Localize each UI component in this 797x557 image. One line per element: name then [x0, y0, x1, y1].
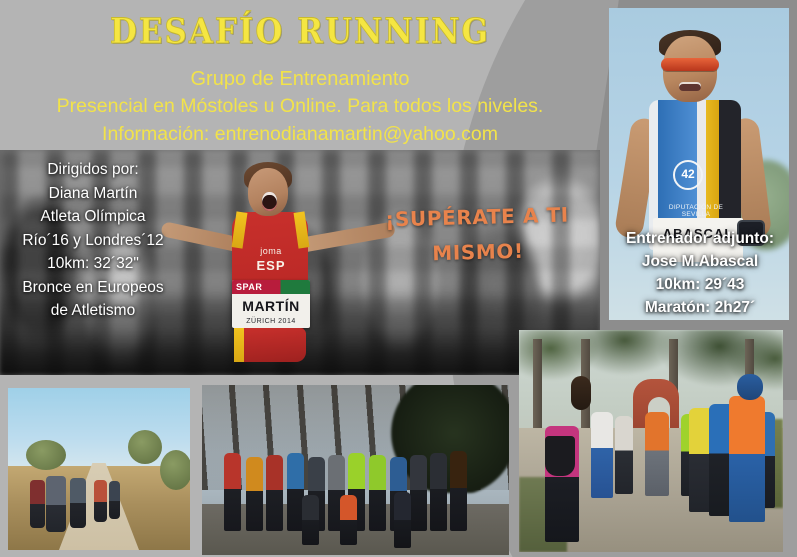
photo-team-group [202, 385, 509, 555]
athlete-kit-brand-text: joma [240, 246, 302, 256]
group-person-dark3 [430, 453, 447, 531]
photo-trail-run [8, 388, 190, 550]
group-person-red [224, 453, 241, 531]
athlete-shorts [234, 328, 306, 362]
poster-title: DESAFÍO RUNNING [0, 14, 600, 50]
group-person-dark4 [450, 451, 467, 531]
trail-runner-red [94, 480, 107, 522]
group-person-crouch2 [394, 492, 411, 548]
athlete-country-text: ESP [240, 258, 302, 273]
group-person-crouch-orange [340, 495, 357, 545]
trail-runner-front [46, 476, 66, 532]
athlete-shorts-stripe [234, 328, 244, 362]
poster-header: DESAFÍO RUNNING Grupo de Entrenamiento P… [0, 0, 600, 148]
assistant-10km-time: 10km: 29´43 [605, 274, 795, 297]
group-person-neon2 [369, 455, 386, 531]
group-canopy-right [389, 385, 509, 493]
group-person-crouch1 [302, 495, 319, 545]
abascal-bib-number: 42 [673, 160, 703, 190]
athlete-race-bib: SPAR MARTÍN ZÜRICH 2014 [232, 280, 310, 328]
session-coach-backpack [545, 436, 575, 476]
coach-title: Atleta Olímpica [0, 205, 186, 229]
photo-training-session [519, 330, 783, 552]
group-person-dark2 [410, 455, 427, 531]
session-tree-trunk-1 [533, 339, 542, 437]
coach-name: Diana Martín [0, 182, 186, 206]
coach-medal-line2: de Atletismo [0, 299, 186, 323]
session-runner-1 [591, 412, 613, 498]
coach-label: Dirigidos por: [0, 158, 186, 182]
group-person-orange [246, 457, 263, 531]
running-poster: DESAFÍO RUNNING Grupo de Entrenamiento P… [0, 0, 797, 557]
abascal-singlet-sponsor: DIPUTACIÓN DE SEVILLA [655, 204, 737, 218]
main-coach-info: Dirigidos por: Diana Martín Atleta Olímp… [0, 158, 186, 323]
bib-event-text: ZÜRICH 2014 [232, 318, 310, 325]
assistant-coach-info: Entrenador adjunto: Jose M.Abascal 10km:… [605, 228, 795, 320]
session-runner-orange-front [729, 396, 765, 522]
assistant-marathon-time: Maratón: 2h27´ [605, 297, 795, 320]
athlete-mouth [262, 192, 277, 211]
group-person-red2 [266, 455, 283, 531]
subtitle-contact-email: Información: entrenodianamartin@yahoo.co… [0, 121, 600, 149]
trail-runner-mid [70, 478, 86, 528]
trail-bush-right [160, 450, 190, 490]
motivational-slogan: ¡SUPÉRATE A TI MISMO! [379, 197, 576, 272]
coach-10km-time: 10km: 32´32" [0, 252, 186, 276]
trail-runner-far [109, 481, 120, 519]
session-runner-orange-1 [645, 412, 669, 496]
subtitle-location: Presencial en Móstoles u Online. Para to… [0, 93, 600, 121]
session-coach-head [571, 376, 591, 410]
trail-tree-right [128, 430, 162, 464]
assistant-label: Entrenador adjunto: [605, 228, 795, 251]
trail-tree-left [26, 440, 66, 470]
abascal-sunglasses [661, 58, 719, 71]
trail-runner-left [30, 480, 45, 528]
slogan-line-2: MISMO! [380, 232, 576, 272]
abascal-mouth [679, 82, 701, 91]
session-runner-cap [737, 374, 763, 400]
assistant-name: Jose M.Abascal [605, 251, 795, 274]
slogan-line-1: ¡SUPÉRATE A TI [379, 197, 575, 237]
bib-sponsor-text: SPAR [232, 280, 310, 294]
coach-medal-line1: Bronce en Europeos [0, 276, 186, 300]
session-runner-2 [615, 416, 633, 494]
coach-olympics: Río´16 y Londres´12 [0, 229, 186, 253]
subtitle-program: Grupo de Entrenamiento [0, 65, 600, 93]
bib-athlete-name: MARTÍN [232, 294, 310, 318]
